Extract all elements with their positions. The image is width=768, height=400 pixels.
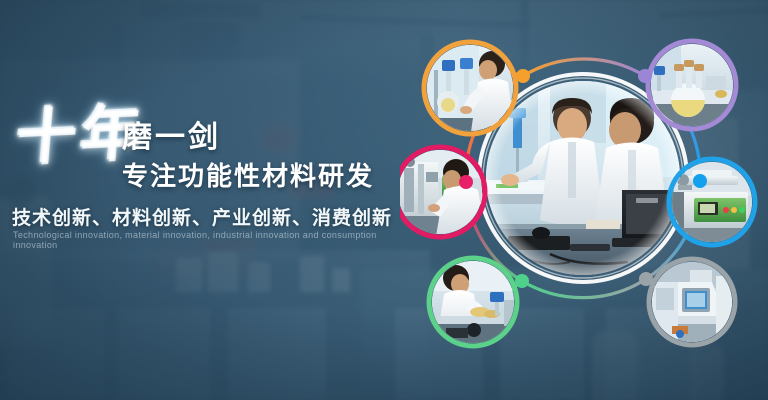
node-dot-gray — [639, 272, 653, 286]
headline-secondary: 专注功能性材料研发 — [122, 156, 374, 193]
tagline-english: Technological innovation, material innov… — [13, 230, 420, 250]
research-circles-graphic — [400, 30, 768, 370]
node-dot-blue — [693, 174, 707, 188]
satellite-circle-left — [400, 147, 486, 237]
headline-text-block: 十年 磨一剑 专注功能性材料研发 技术创新、材料创新、产业创新、消费创新 Tec… — [0, 0, 420, 400]
node-dot-purple — [638, 69, 652, 83]
satellite-circle-top-right — [648, 41, 736, 129]
satellite-circle-bottom-left — [429, 258, 517, 346]
node-dot-green — [515, 274, 529, 288]
satellite-circle-right — [669, 159, 755, 245]
satellite-circle-top-left — [424, 42, 516, 134]
satellite-circle-bottom-right — [649, 259, 735, 345]
promo-banner: 十年 磨一剑 专注功能性材料研发 技术创新、材料创新、产业创新、消费创新 Tec… — [0, 0, 768, 400]
tagline-chinese: 技术创新、材料创新、产业创新、消费创新 — [12, 203, 392, 230]
node-dot-orange — [516, 69, 530, 83]
node-dot-pink — [459, 175, 473, 189]
headline-primary: 磨一剑 — [122, 112, 221, 156]
